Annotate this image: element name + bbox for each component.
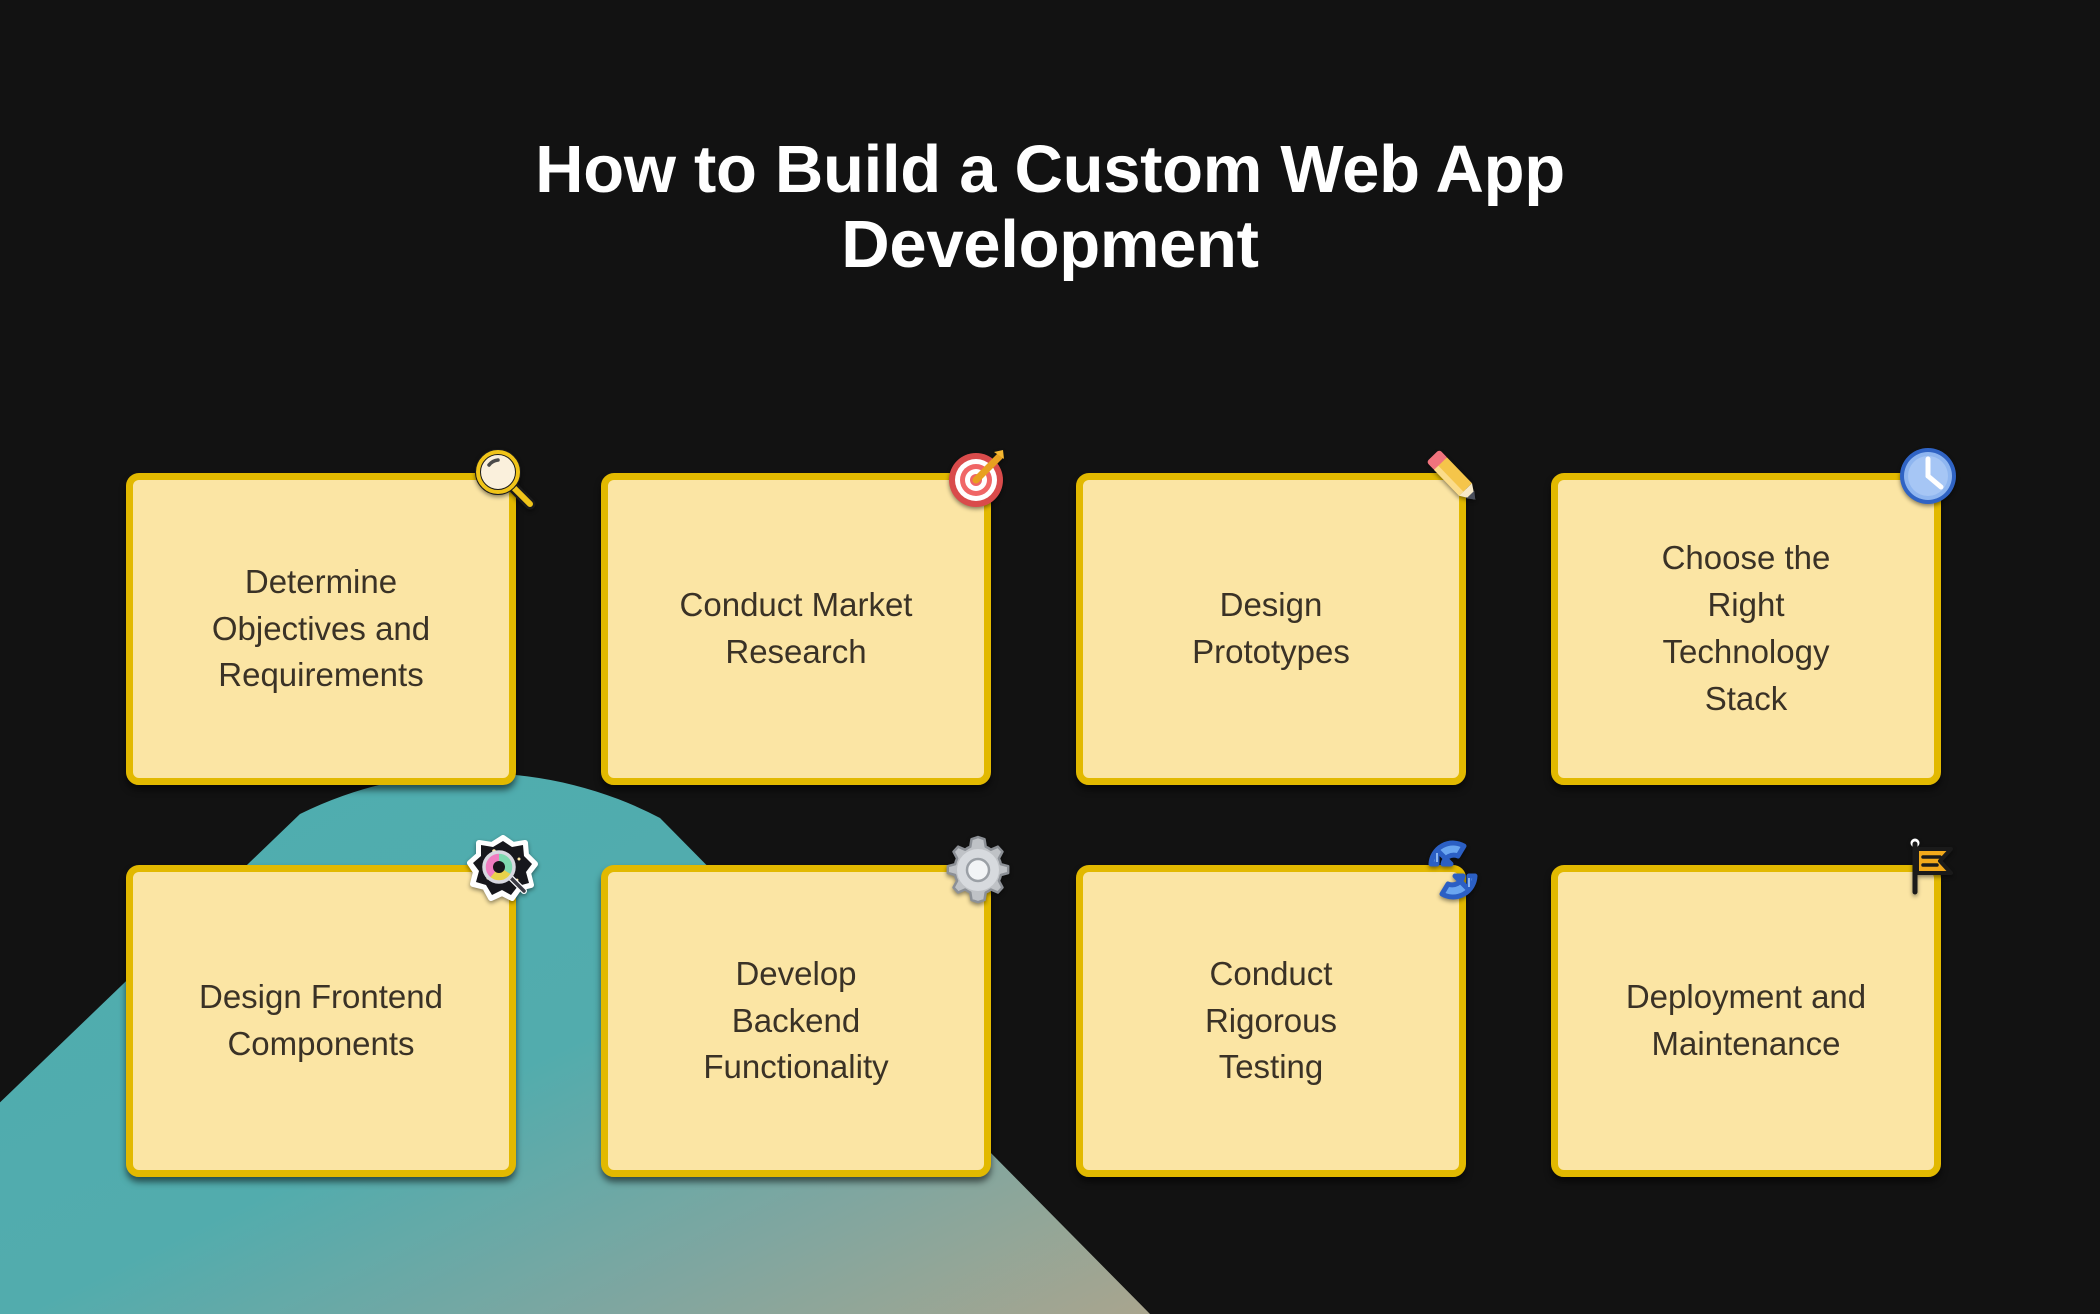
process-card-1[interactable]: Determine Objectives and Requirements <box>126 473 516 785</box>
bullseye-target-icon <box>942 442 1014 514</box>
process-card-6[interactable]: Develop Backend Functionality <box>601 865 991 1177</box>
process-card-label: Develop Backend Functionality <box>703 951 888 1092</box>
process-card-label: Design Prototypes <box>1192 582 1350 676</box>
magnifying-glass-icon <box>467 442 539 514</box>
process-card-8[interactable]: Deployment and Maintenance <box>1551 865 1941 1177</box>
process-card-2[interactable]: Conduct Market Research <box>601 473 991 785</box>
process-card-4[interactable]: Choose the Right Technology Stack <box>1551 473 1941 785</box>
gear-icon <box>942 834 1014 906</box>
process-step-card-grid: Determine Objectives and Requirements Co… <box>126 473 1940 1177</box>
process-card-3[interactable]: Design Prototypes <box>1076 473 1466 785</box>
process-card-label: Conduct Market Research <box>680 582 913 676</box>
process-card-label: Choose the Right Technology Stack <box>1662 535 1831 722</box>
process-card-label: Determine Objectives and Requirements <box>212 559 430 700</box>
process-card-7[interactable]: Conduct Rigorous Testing <box>1076 865 1466 1177</box>
page-title: How to Build a Custom Web App Developmen… <box>0 132 2100 282</box>
process-card-5[interactable]: Design Frontend Components <box>126 865 516 1177</box>
pencil-icon <box>1417 442 1489 514</box>
process-card-label: Design Frontend Components <box>199 974 443 1068</box>
clock-icon <box>1892 442 1964 514</box>
process-card-label: Deployment and Maintenance <box>1626 974 1866 1068</box>
refresh-arrows-icon <box>1417 834 1489 906</box>
process-card-label: Conduct Rigorous Testing <box>1205 951 1337 1092</box>
flag-icon <box>1896 828 1968 900</box>
crystal-ball-search-icon <box>467 834 539 906</box>
